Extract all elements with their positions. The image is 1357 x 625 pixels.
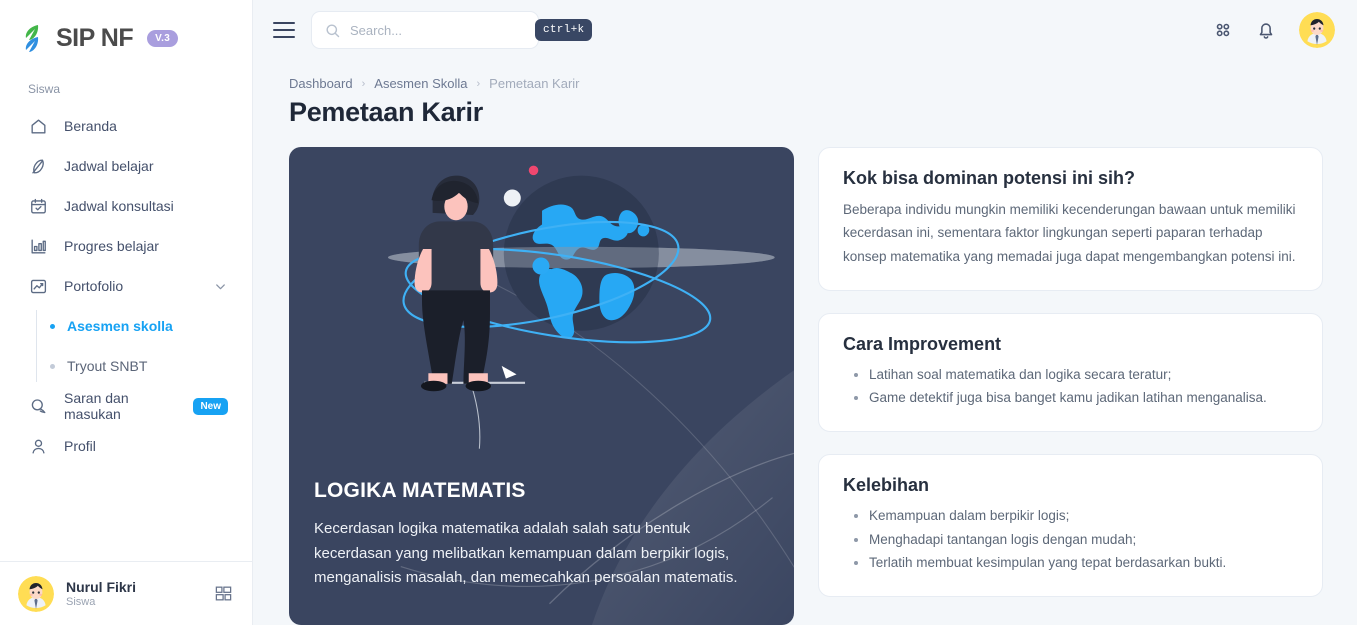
sidebar-item-label: Progres belajar [64,238,228,254]
search-icon [324,22,341,39]
list-item: Kemampuan dalam berpikir logis; [869,504,1298,527]
list-item: Latihan soal matematika dan logika secar… [869,363,1298,386]
info-cards-column: Kok bisa dominan potensi ini sih? Bebera… [818,147,1323,625]
card-list: Kemampuan dalam berpikir logis; Menghada… [843,504,1298,574]
user-role: Siswa [66,596,200,608]
search-shortcut-badge: ctrl+k [535,19,592,41]
notification-bell-icon[interactable] [1255,19,1277,41]
sidebar-item-label: Jadwal konsultasi [64,198,228,214]
chevron-down-icon[interactable] [213,279,228,294]
sidebar-item-label: Saran dan masukan [64,390,177,422]
sidebar-subitem-label: Asesmen skolla [67,318,173,334]
bullet-dot-icon [50,364,55,369]
card-dominan-potensi: Kok bisa dominan potensi ini sih? Bebera… [818,147,1323,291]
sidebar-nav: Beranda Jadwal belajar Jadwal konsultasi… [0,104,252,466]
calendar-check-icon [28,196,48,216]
main-area: ctrl+k [253,0,1357,625]
user-meta: Nurul Fikri Siswa [66,579,200,608]
list-item: Menghadapi tantangan logis dengan mudah; [869,528,1298,551]
home-icon [28,116,48,136]
sidebar-subitem-label: Tryout SNBT [67,358,147,374]
page-title: Pemetaan Karir [289,97,1323,128]
breadcrumb-separator-icon: › [362,78,366,90]
card-title: Kok bisa dominan potensi ini sih? [843,168,1298,189]
brand-name: SIP NF [56,24,133,53]
sidebar-item-portofolio[interactable]: Portofolio [0,266,252,306]
sidebar-section-label: Siswa [0,60,252,104]
sidebar-item-jadwal-belajar[interactable]: Jadwal belajar [0,146,252,186]
list-item: Game detektif juga bisa banget kamu jadi… [869,386,1298,409]
breadcrumb-item-dashboard[interactable]: Dashboard [289,76,353,91]
bullet-dot-icon [50,324,55,329]
user-icon [28,436,48,456]
grid-apps-icon[interactable] [1213,20,1233,40]
version-badge: V.3 [147,30,178,47]
card-list: Latihan soal matematika dan logika secar… [843,363,1298,409]
app-root: SIP NF V.3 Siswa Beranda Jadwal belajar [0,0,1357,625]
list-item: Terlatih membuat kesimpulan yang tepat b… [869,551,1298,574]
breadcrumb-item-asesmen-skolla[interactable]: Asesmen Skolla [374,76,467,91]
sidebar-item-progres-belajar[interactable]: Progres belajar [0,226,252,266]
breadcrumb: Dashboard › Asesmen Skolla › Pemetaan Ka… [289,76,1323,91]
sidebar-item-label: Profil [64,438,228,454]
search-box[interactable]: ctrl+k [311,11,539,49]
topbar-actions [1213,12,1335,48]
topbar: ctrl+k [253,0,1357,60]
sidebar-item-profil[interactable]: Profil [0,426,252,466]
breadcrumb-separator-icon: › [477,78,481,90]
sidebar-item-asesmen-skolla[interactable]: Asesmen skolla [36,306,252,346]
sidebar-item-tryout-snbt[interactable]: Tryout SNBT [36,346,252,386]
content: Dashboard › Asesmen Skolla › Pemetaan Ka… [253,60,1357,625]
status-badge-new: New [193,398,228,415]
bar-chart-icon [28,236,48,256]
sidebar: SIP NF V.3 Siswa Beranda Jadwal belajar [0,0,253,625]
leaf-logo-icon [22,24,48,52]
hero-card: LOGIKA MATEMATIS Kecerdasan logika matem… [289,147,794,625]
breadcrumb-item-pemetaan-karir: Pemetaan Karir [489,76,579,91]
avatar [18,576,54,612]
collapse-sidebar-icon[interactable] [212,583,234,605]
hero-title: LOGIKA MATEMATIS [314,479,769,503]
leaf-icon [28,156,48,176]
hero-body: LOGIKA MATEMATIS Kecerdasan logika matem… [289,479,794,625]
trending-up-icon [28,276,48,296]
brand[interactable]: SIP NF V.3 [0,0,252,60]
sidebar-item-jadwal-konsultasi[interactable]: Jadwal konsultasi [0,186,252,226]
search-input[interactable] [350,23,526,38]
card-title: Kelebihan [843,475,1298,496]
user-name: Nurul Fikri [66,579,200,595]
card-title: Cara Improvement [843,334,1298,355]
sidebar-item-label: Jadwal belajar [64,158,228,174]
sidebar-item-saran-dan-masukan[interactable]: Saran dan masukan New [0,386,252,426]
chat-icon [28,396,48,416]
sidebar-user-box[interactable]: Nurul Fikri Siswa [0,561,252,625]
sidebar-item-label: Beranda [64,118,228,134]
sidebar-submenu-portofolio: Asesmen skolla Tryout SNBT [0,306,252,386]
sidebar-item-beranda[interactable]: Beranda [0,106,252,146]
card-text: Beberapa individu mungkin memiliki kecen… [843,198,1298,268]
sidebar-item-label: Portofolio [64,278,197,294]
header-user-avatar[interactable] [1299,12,1335,48]
hamburger-menu-icon[interactable] [273,22,295,38]
content-grid: LOGIKA MATEMATIS Kecerdasan logika matem… [289,147,1323,625]
card-kelebihan: Kelebihan Kemampuan dalam berpikir logis… [818,454,1323,597]
card-cara-improvement: Cara Improvement Latihan soal matematika… [818,313,1323,432]
hero-description: Kecerdasan logika matematika adalah sala… [314,517,769,591]
